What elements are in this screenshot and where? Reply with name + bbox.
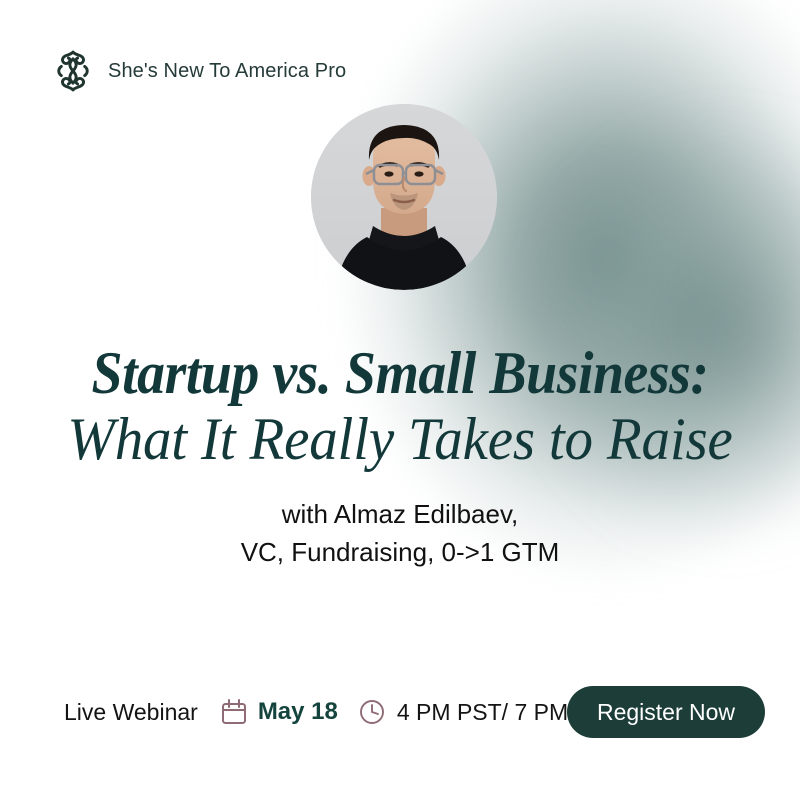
headline-line-1: Startup vs. Small Business: <box>28 343 772 403</box>
brand-name: She's New To America Pro <box>108 60 346 83</box>
speaker-headshot-avatar <box>311 104 497 290</box>
live-webinar-label: Live Webinar <box>64 699 198 726</box>
calendar-icon <box>221 698 247 726</box>
register-now-button[interactable]: Register Now <box>567 686 765 738</box>
page-title: Startup vs. Small Business: What It Real… <box>0 343 800 469</box>
ornamental-knot-logo-icon <box>52 48 94 94</box>
event-details-group: Live Webinar May 18 4 PM PST/ 7 PM EST <box>64 698 619 726</box>
event-details-bar: Live Webinar May 18 4 PM PST/ 7 PM EST R… <box>0 686 800 738</box>
clock-icon <box>359 699 385 725</box>
event-date: May 18 <box>258 698 338 726</box>
webinar-promo-poster: She's New To America Pro <box>0 0 800 800</box>
brand-lockup: She's New To America Pro <box>52 48 346 94</box>
speaker-name: with Almaz Edilbaev, <box>0 496 800 534</box>
speaker-role: VC, Fundraising, 0->1 GTM <box>0 534 800 572</box>
headline-line-2: What It Really Takes to Raise <box>20 409 780 469</box>
speaker-subtitle: with Almaz Edilbaev, VC, Fundraising, 0-… <box>0 496 800 571</box>
